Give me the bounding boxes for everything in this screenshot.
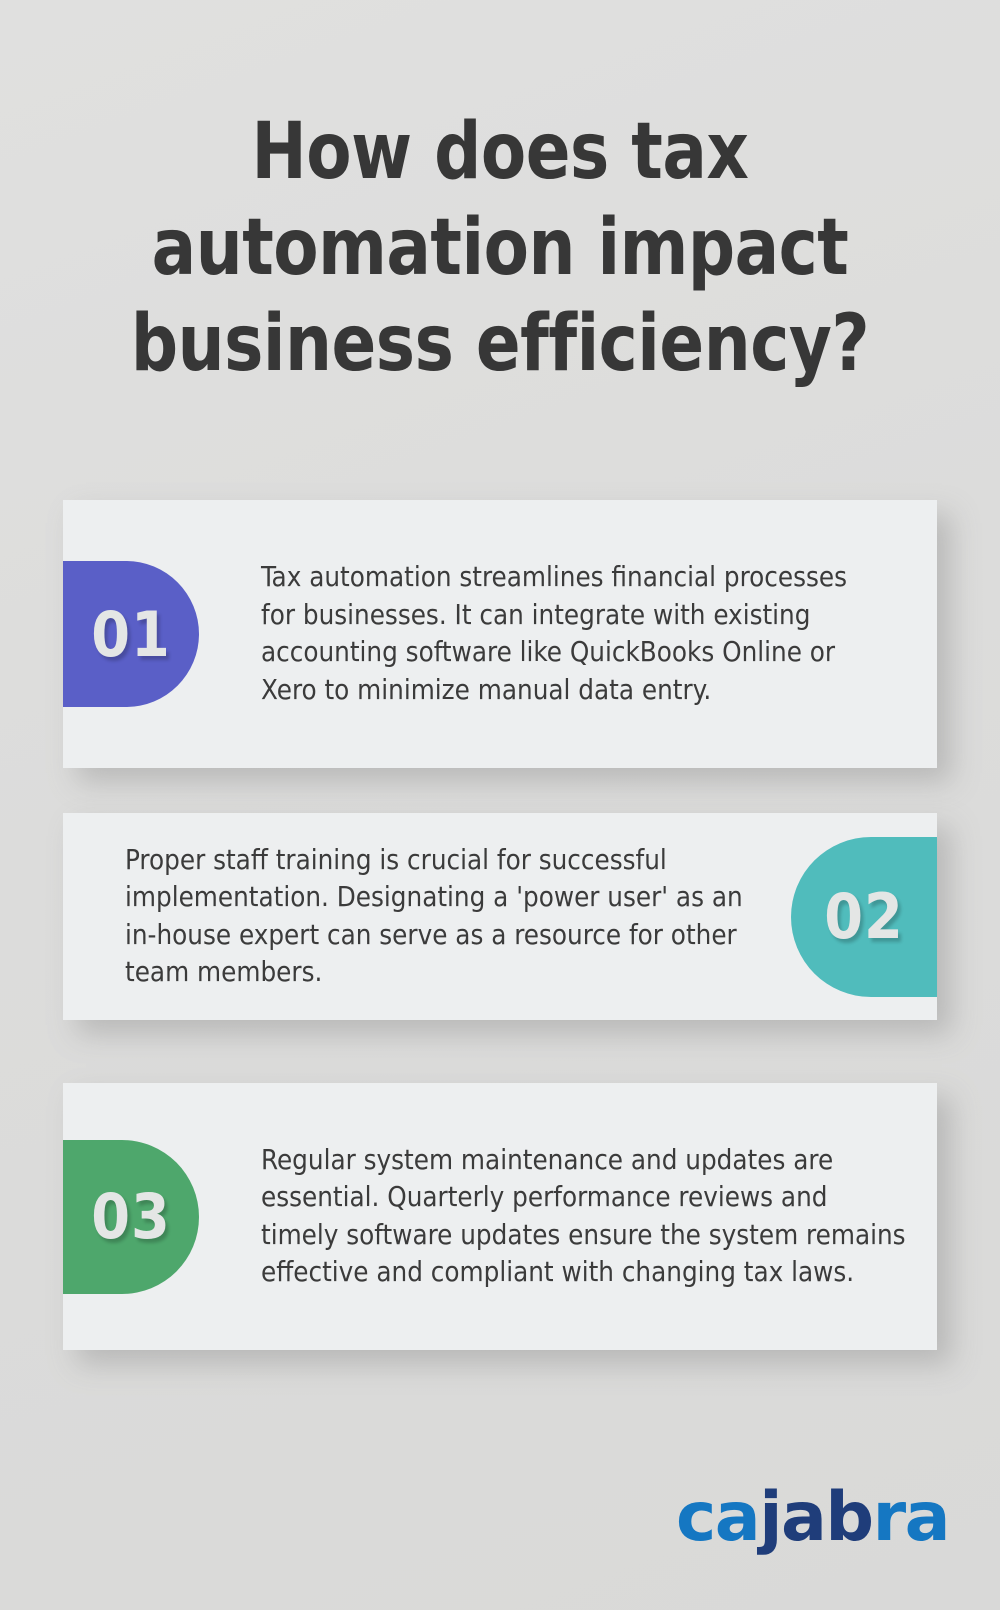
logo-segment-ra: ra bbox=[873, 1478, 949, 1557]
logo-segment-jab: jab bbox=[759, 1478, 872, 1557]
step-number-badge-02: 02 bbox=[791, 837, 937, 997]
info-card-1: 01 Tax automation streamlines financial … bbox=[63, 500, 937, 768]
step-number-badge-03: 03 bbox=[63, 1140, 199, 1294]
step-number-label: 01 bbox=[91, 598, 171, 671]
page-title-wrapper: How does tax automation impact business … bbox=[60, 104, 940, 392]
step-number-label: 02 bbox=[824, 880, 904, 953]
info-card-1-text: Tax automation streamlines financial pro… bbox=[199, 559, 937, 709]
logo-segment-ca: ca bbox=[676, 1478, 759, 1557]
page-title: How does tax automation impact business … bbox=[86, 104, 913, 392]
info-card-3: 03 Regular system maintenance and update… bbox=[63, 1083, 937, 1350]
step-number-label: 03 bbox=[91, 1180, 171, 1253]
step-number-badge-01: 01 bbox=[63, 561, 199, 707]
info-card-2: Proper staff training is crucial for suc… bbox=[63, 813, 937, 1020]
cajabra-logo: cajabra bbox=[676, 1484, 949, 1552]
infographic-page: How does tax automation impact business … bbox=[0, 0, 1000, 1610]
info-card-3-text: Regular system maintenance and updates a… bbox=[199, 1142, 937, 1292]
info-card-2-text: Proper staff training is crucial for suc… bbox=[63, 842, 791, 992]
